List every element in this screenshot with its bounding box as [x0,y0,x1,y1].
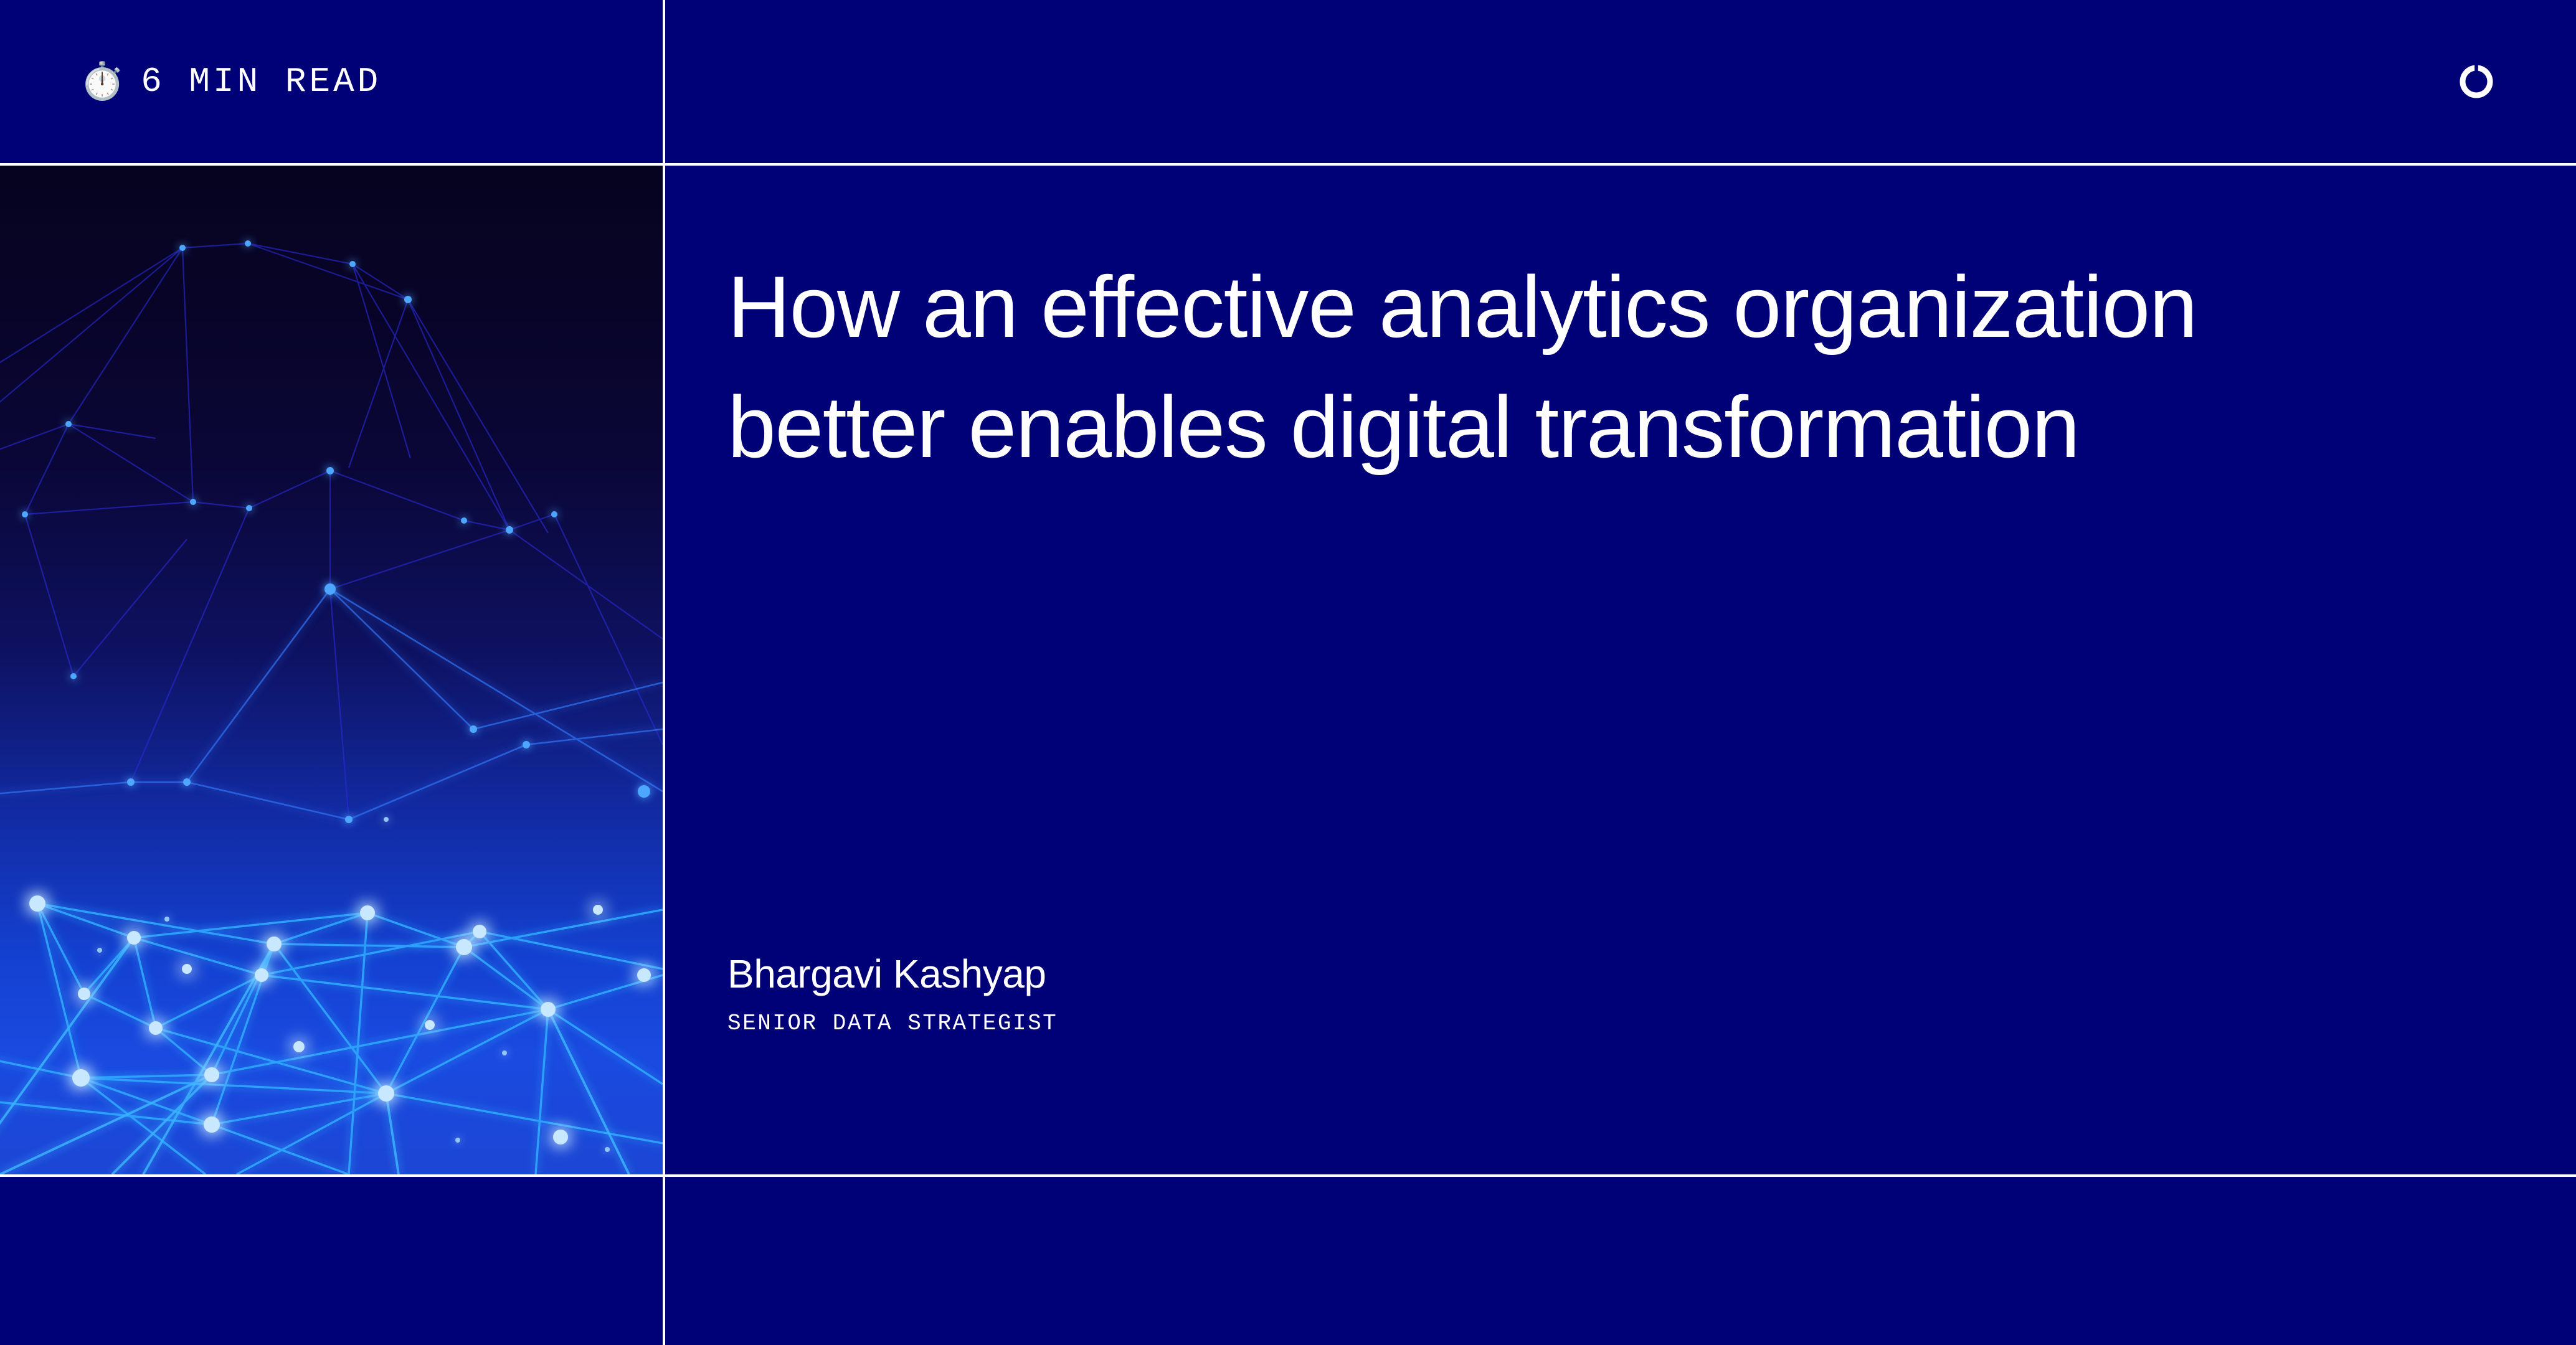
divider-vertical [663,0,665,1345]
stopwatch-icon: ⏱️ [80,64,125,100]
article-content: How an effective analytics organization … [665,166,2576,1174]
page-title: How an effective analytics organization … [727,247,2422,487]
power-ring-icon [2459,64,2494,99]
author-role: SENIOR DATA STRATEGIST [727,1010,1058,1037]
divider-top [0,163,2576,166]
footer-bar [0,1177,2576,1345]
header-bar: ⏱️ 6 MIN READ [0,0,2576,163]
article-hero-slide: ⏱️ 6 MIN READ [0,0,2576,1345]
network-graphic-svg [0,166,663,1174]
brand-logo[interactable] [2459,0,2494,163]
read-time-indicator: ⏱️ 6 MIN READ [80,0,381,163]
network-constellation-graphic [0,166,663,1174]
divider-bottom [0,1174,2576,1177]
author-name: Bhargavi Kashyap [727,951,1058,998]
byline: Bhargavi Kashyap SENIOR DATA STRATEGIST [727,951,1058,1037]
read-time-label: 6 MIN READ [141,62,381,101]
